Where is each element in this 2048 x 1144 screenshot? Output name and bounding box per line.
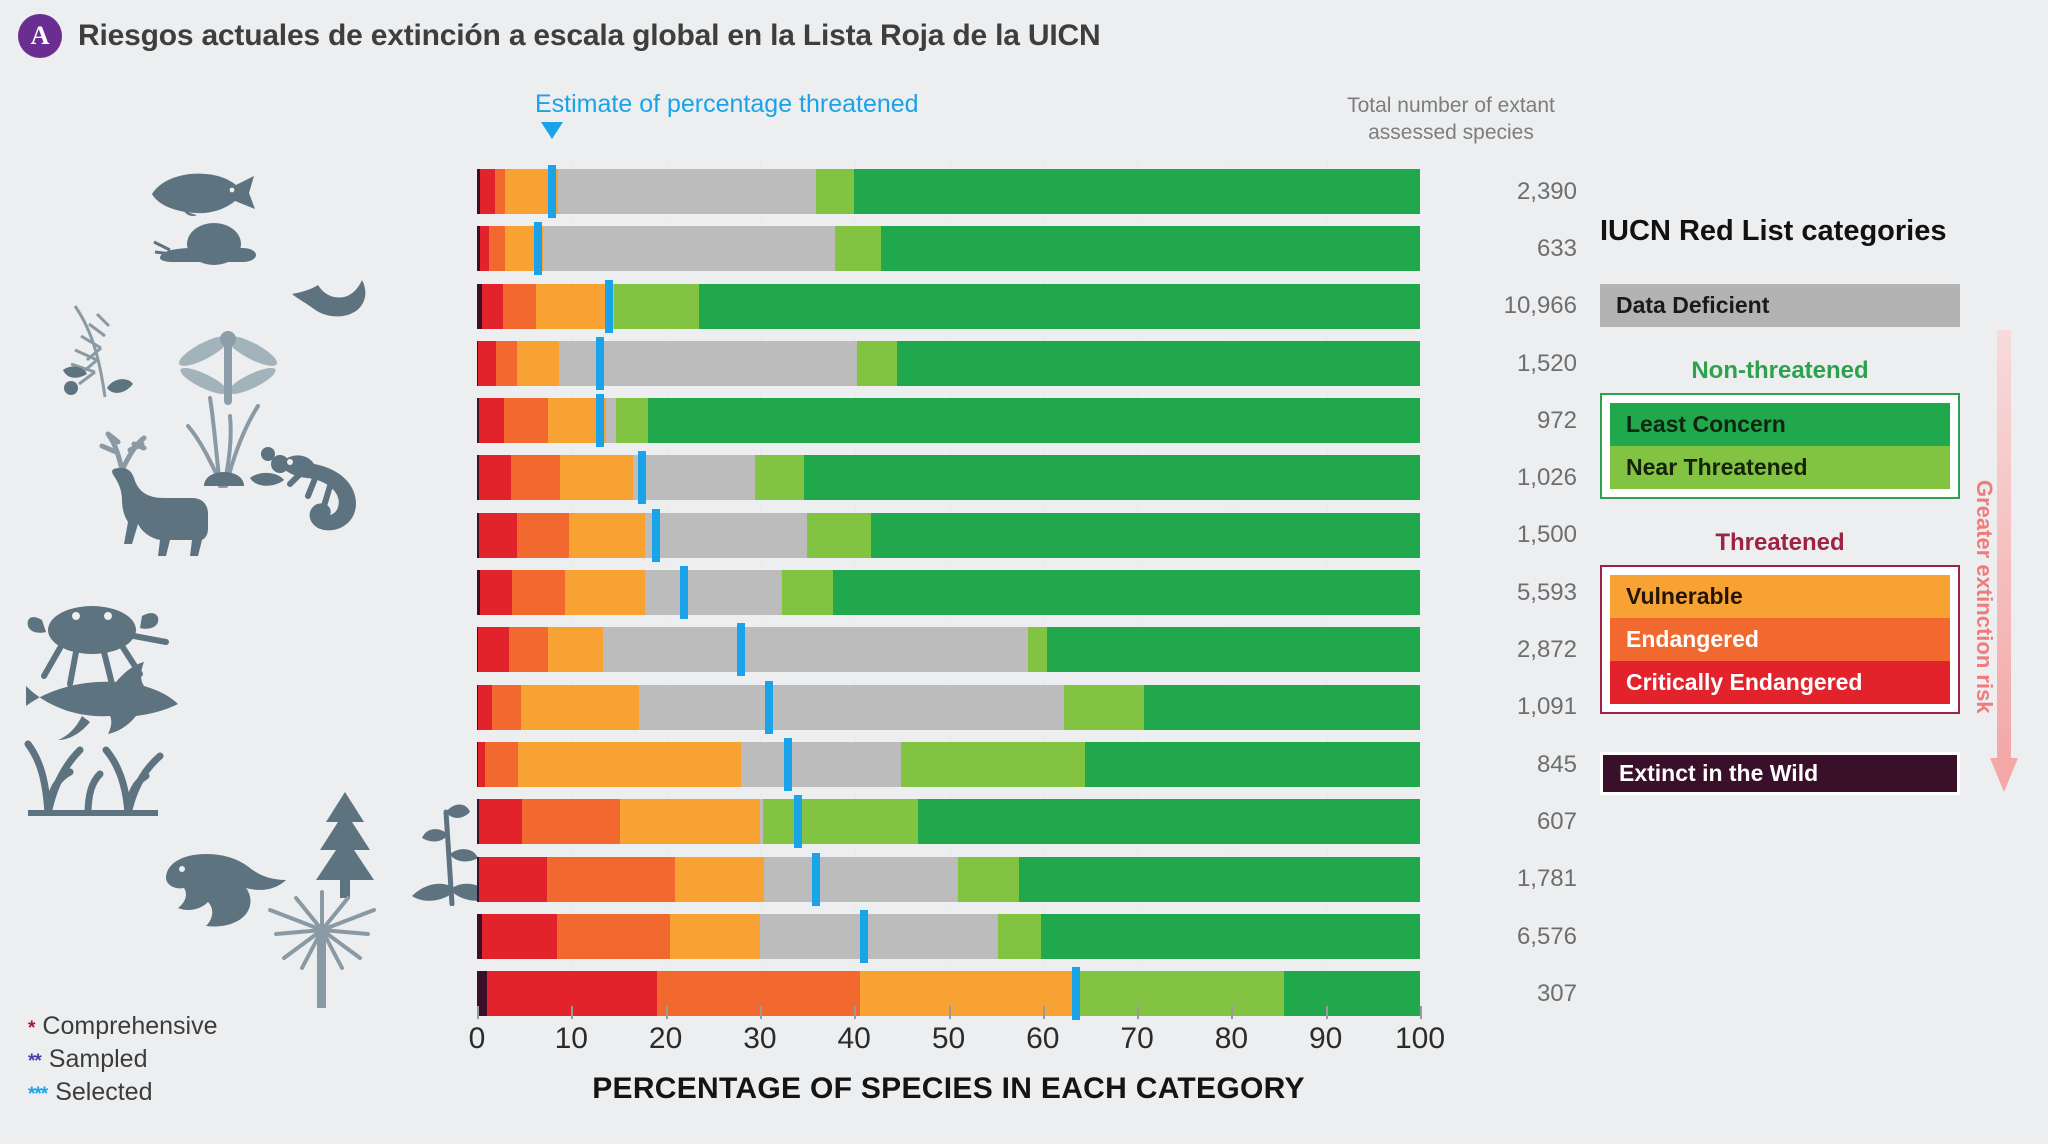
- fern-icon: [45, 292, 165, 402]
- stacked-bar: [477, 799, 1420, 844]
- grid-tick: [1043, 564, 1045, 569]
- grid-tick: [1326, 392, 1328, 397]
- bar-segment-vu: [560, 455, 633, 500]
- bar-segment-en: [657, 971, 860, 1016]
- total-species-column-header: Total number of extant assessed species: [1326, 92, 1576, 147]
- bar-segment-lc: [854, 169, 1420, 214]
- bar-segment-cr: [480, 226, 489, 271]
- bar-segment-lc: [871, 513, 1420, 558]
- grid-tick: [571, 392, 573, 397]
- chart-header: A Riesgos actuales de extinción a escala…: [18, 14, 1100, 58]
- grid-tick: [949, 851, 951, 856]
- bar-segment-dd: [645, 513, 807, 558]
- axis-tick-label: 20: [649, 1022, 682, 1056]
- bar-segment-cr: [478, 742, 486, 787]
- bar-segment-nt: [958, 857, 1019, 902]
- total-species-value: 1,091: [1447, 679, 1577, 736]
- estimate-threatened-marker: [534, 222, 542, 275]
- grid-tick: [571, 851, 573, 856]
- bar-segment-vu: [675, 857, 764, 902]
- grid-tick: [1043, 621, 1045, 626]
- grid-tick: [1231, 736, 1233, 741]
- grid-tick: [760, 220, 762, 225]
- bar-segment-cr: [482, 914, 557, 959]
- legend-chip-least-concern: Least Concern: [1610, 403, 1950, 446]
- bar-segment-dd: [760, 914, 999, 959]
- bar-segment-lc: [881, 226, 1420, 271]
- bar-segment-lc: [1019, 857, 1420, 902]
- grid-tick: [1043, 908, 1045, 913]
- grid-tick: [1043, 507, 1045, 512]
- grid-tick: [1231, 793, 1233, 798]
- grid-tick: [760, 335, 762, 340]
- footnote-item: **Sampled: [28, 1045, 218, 1074]
- grid-tick: [571, 163, 573, 168]
- grid-tick: [854, 965, 856, 970]
- grid-tick: [854, 335, 856, 340]
- bird-icon: [290, 270, 386, 318]
- bar-segment-vu: [565, 570, 645, 615]
- grid-tick: [1231, 851, 1233, 856]
- bar-segment-cr: [479, 455, 511, 500]
- bar-segment-en: [557, 914, 670, 959]
- bar-segment-en: [522, 799, 620, 844]
- estimate-threatened-label: Estimate of percentage threatened: [535, 90, 919, 119]
- page-title: Riesgos actuales de extinción a escala g…: [78, 19, 1100, 53]
- estimate-threatened-marker: [652, 509, 660, 562]
- total-species-value: 845: [1447, 736, 1577, 793]
- bar-segment-lc: [918, 799, 1420, 844]
- bar-segment-cr: [479, 398, 504, 443]
- estimate-threatened-marker: [1072, 967, 1080, 1020]
- extinction-risk-arrow: Greater extinction risk: [1985, 330, 2025, 800]
- axis-tick: [1326, 1006, 1328, 1019]
- bar-segment-lc: [1041, 914, 1420, 959]
- bar-segment-cr: [480, 570, 512, 615]
- grid-tick: [760, 449, 762, 454]
- grid-tick: [854, 908, 856, 913]
- bar-segment-lc: [1144, 685, 1420, 730]
- grid-tick: [854, 220, 856, 225]
- grid-tick: [666, 278, 668, 283]
- grid-tick: [1326, 163, 1328, 168]
- estimate-threatened-marker: [548, 165, 556, 218]
- grid-tick: [1043, 392, 1045, 397]
- grid-tick: [571, 335, 573, 340]
- estimate-threatened-marker: [638, 451, 646, 504]
- grid-tick: [1231, 908, 1233, 913]
- grid-tick: [666, 507, 668, 512]
- grid-tick: [760, 621, 762, 626]
- grid-tick: [1137, 736, 1139, 741]
- grid-tick: [1137, 621, 1139, 626]
- grid-tick: [1137, 793, 1139, 798]
- stacked-bar: [477, 857, 1420, 902]
- risk-arrow-head-icon: [1990, 758, 2018, 792]
- grid-tick: [1043, 163, 1045, 168]
- estimate-threatened-marker: [784, 738, 792, 791]
- stacked-bar: [477, 169, 1420, 214]
- grid-tick: [854, 278, 856, 283]
- bar-segment-cr: [480, 169, 495, 214]
- bar-segment-dd: [558, 169, 816, 214]
- bar-segment-lc: [804, 455, 1420, 500]
- grid-tick: [760, 679, 762, 684]
- estimate-threatened-marker: [596, 394, 604, 447]
- grid-tick: [949, 507, 951, 512]
- legend-chip-extinct-in-the-wild: Extinct in the Wild: [1600, 752, 1960, 795]
- legend-title: IUCN Red List categories: [1600, 215, 2000, 248]
- grid-tick: [854, 736, 856, 741]
- axis-tick: [854, 1006, 856, 1019]
- estimate-threatened-marker: [737, 623, 745, 676]
- grid-tick: [1231, 449, 1233, 454]
- bar-segment-cr: [482, 284, 504, 329]
- bar-segment-vu: [518, 742, 741, 787]
- stacked-bar: [477, 455, 1420, 500]
- bar-segment-cr: [478, 627, 509, 672]
- axis-tick-label: 70: [1120, 1022, 1153, 1056]
- grid-tick: [666, 163, 668, 168]
- grid-tick: [1043, 335, 1045, 340]
- bar-segment-en: [517, 513, 570, 558]
- grid-tick: [1326, 507, 1328, 512]
- snail-icon: [152, 222, 260, 274]
- grid-tick: [1137, 220, 1139, 225]
- grid-tick: [1326, 449, 1328, 454]
- grid-tick: [949, 736, 951, 741]
- grid-tick: [854, 621, 856, 626]
- bar-segment-en: [511, 455, 560, 500]
- grid-tick: [1137, 965, 1139, 970]
- total-species-value: 1,500: [1447, 507, 1577, 564]
- grid-tick: [571, 278, 573, 283]
- bar-segment-nt: [763, 799, 919, 844]
- grid-tick: [571, 793, 573, 798]
- grid-tick: [854, 163, 856, 168]
- grid-tick: [1043, 736, 1045, 741]
- footnote-marker: **: [28, 1051, 41, 1073]
- grid-tick: [666, 908, 668, 913]
- estimate-threatened-marker: [812, 853, 820, 906]
- lizard-icon: [260, 440, 400, 550]
- estimate-arrow-icon: [541, 122, 563, 139]
- stacked-bar: [477, 341, 1420, 386]
- grid-tick: [666, 449, 668, 454]
- footnote-marker: *: [28, 1018, 34, 1040]
- grid-tick: [1326, 220, 1328, 225]
- grid-tick: [666, 220, 668, 225]
- grid-tick: [1326, 278, 1328, 283]
- stacked-bar: [477, 685, 1420, 730]
- bar-segment-en: [547, 857, 675, 902]
- grid-tick: [949, 220, 951, 225]
- grid-tick: [1137, 163, 1139, 168]
- footnote-label: Sampled: [49, 1045, 148, 1074]
- bar-segment-cr: [478, 341, 496, 386]
- estimate-threatened-marker: [680, 566, 688, 619]
- grid-tick: [1326, 736, 1328, 741]
- grid-tick: [1231, 507, 1233, 512]
- conifer-icon: [300, 788, 390, 898]
- bar-segment-lc: [648, 398, 1420, 443]
- legend-group-nonthreatened: Least Concern Near Threatened: [1600, 393, 1960, 499]
- axis-tick-label: 60: [1026, 1022, 1059, 1056]
- estimate-threatened-marker: [605, 280, 613, 333]
- footnote-legend: *Comprehensive**Sampled***Selected: [28, 1012, 218, 1110]
- total-species-value: 607: [1447, 793, 1577, 850]
- axis-tick: [1043, 1006, 1045, 1019]
- bar-segment-vu: [620, 799, 760, 844]
- bar-segment-nt: [901, 742, 1085, 787]
- grid-tick: [666, 564, 668, 569]
- grid-tick: [1231, 335, 1233, 340]
- grid-tick: [571, 507, 573, 512]
- footnote-label: Selected: [55, 1078, 152, 1107]
- grid-tick: [760, 793, 762, 798]
- grid-tick: [1326, 965, 1328, 970]
- deer-icon: [78, 428, 228, 558]
- legend-chip-vulnerable: Vulnerable: [1610, 575, 1950, 618]
- bar-segment-cr: [479, 857, 547, 902]
- bar-segment-dd: [603, 627, 1027, 672]
- bar-segment-lc: [1284, 971, 1420, 1016]
- grid-tick: [760, 507, 762, 512]
- grid-tick: [666, 679, 668, 684]
- total-species-value: 972: [1447, 392, 1577, 449]
- footnote-item: *Comprehensive: [28, 1012, 218, 1041]
- grid-tick: [949, 908, 951, 913]
- stacked-bar: [477, 570, 1420, 615]
- stacked-bar: [477, 284, 1420, 329]
- grid-tick: [571, 220, 573, 225]
- risk-arrow-shaft: [1997, 330, 2011, 760]
- grid-tick: [571, 621, 573, 626]
- grid-tick: [949, 679, 951, 684]
- grid-tick: [760, 564, 762, 569]
- bar-segment-lc: [1085, 742, 1420, 787]
- grid-tick: [1043, 851, 1045, 856]
- axis-tick-label: 40: [838, 1022, 871, 1056]
- grid-tick: [760, 908, 762, 913]
- grid-tick: [1137, 564, 1139, 569]
- grid-tick: [949, 621, 951, 626]
- stacked-bar: [477, 226, 1420, 271]
- grid-tick: [949, 793, 951, 798]
- bar-segment-lc: [699, 284, 1420, 329]
- legend-group-threatened: Vulnerable Endangered Critically Endange…: [1600, 565, 1960, 714]
- legend-chip-data-deficient: Data Deficient: [1600, 284, 1960, 327]
- bar-segment-vu: [548, 627, 604, 672]
- grid-tick: [760, 851, 762, 856]
- grid-tick: [760, 736, 762, 741]
- estimate-threatened-marker: [596, 337, 604, 390]
- bar-segment-en: [509, 627, 548, 672]
- bar-segment-vu: [521, 685, 639, 730]
- axis-tick: [571, 1006, 573, 1019]
- stacked-bar: [477, 398, 1420, 443]
- bar-segment-dd: [559, 341, 857, 386]
- grid-tick: [1231, 621, 1233, 626]
- legend-caption-nonthreatened: Non-threatened: [1600, 357, 1960, 385]
- x-axis: 0102030405060708090100: [477, 1006, 1420, 1007]
- legend-caption-threatened: Threatened: [1600, 529, 1960, 557]
- bar-segment-nt: [1064, 685, 1144, 730]
- bar-segment-vu: [517, 341, 559, 386]
- grid-tick: [949, 564, 951, 569]
- total-header-line-2: assessed species: [1326, 119, 1576, 146]
- grid-tick: [949, 278, 951, 283]
- axis-tick-label: 30: [743, 1022, 776, 1056]
- axis-tick-label: 10: [555, 1022, 588, 1056]
- grid-tick: [1043, 449, 1045, 454]
- grid-tick: [1231, 965, 1233, 970]
- grid-tick: [1326, 564, 1328, 569]
- footnote-label: Comprehensive: [42, 1012, 217, 1041]
- grid-tick: [1137, 679, 1139, 684]
- grid-tick: [1326, 908, 1328, 913]
- bar-segment-nt: [857, 341, 897, 386]
- axis-tick-label: 100: [1395, 1022, 1445, 1056]
- bar-segment-en: [492, 685, 521, 730]
- grid-tick: [1043, 679, 1045, 684]
- axis-tick: [477, 1006, 479, 1019]
- bar-segment-nt: [835, 226, 880, 271]
- axis-tick: [760, 1006, 762, 1019]
- grid-tick: [854, 679, 856, 684]
- grid-tick: [760, 278, 762, 283]
- estimate-threatened-marker: [794, 795, 802, 848]
- axis-tick-label: 80: [1215, 1022, 1248, 1056]
- cycad-icon: [262, 890, 382, 1010]
- bar-segment-nt: [1077, 971, 1284, 1016]
- axis-tick: [1420, 1006, 1422, 1019]
- legend-chip-near-threatened: Near Threatened: [1610, 446, 1950, 489]
- grid-tick: [854, 851, 856, 856]
- grid-tick: [666, 621, 668, 626]
- grid-tick: [1043, 278, 1045, 283]
- estimate-threatened-marker: [860, 910, 868, 963]
- grid-tick: [571, 564, 573, 569]
- bar-segment-en: [496, 341, 517, 386]
- panel-badge: A: [18, 14, 62, 58]
- grid-tick: [1231, 163, 1233, 168]
- estimate-threatened-marker: [765, 681, 773, 734]
- bar-segment-lc: [833, 570, 1420, 615]
- axis-tick-label: 90: [1309, 1022, 1342, 1056]
- axis-tick: [1231, 1006, 1233, 1019]
- bar-segment-en: [503, 284, 536, 329]
- total-species-value: 1,026: [1447, 449, 1577, 506]
- bar-segment-dd: [543, 226, 835, 271]
- grid-tick: [571, 736, 573, 741]
- bar-segment-cr: [478, 685, 492, 730]
- grid-tick: [949, 335, 951, 340]
- grid-tick: [666, 793, 668, 798]
- legend-chip-endangered: Endangered: [1610, 618, 1950, 661]
- bar-segment-nt: [816, 169, 854, 214]
- grid-tick: [1326, 793, 1328, 798]
- bar-segment-dd: [633, 455, 756, 500]
- axis-tick-label: 50: [932, 1022, 965, 1056]
- iucn-legend: IUCN Red List categories Data Deficient …: [1600, 215, 2000, 795]
- bar-segment-lc: [897, 341, 1420, 386]
- total-species-value: 2,390: [1447, 163, 1577, 220]
- grid-tick: [666, 736, 668, 741]
- grid-tick: [571, 449, 573, 454]
- footnote-marker: ***: [28, 1084, 47, 1106]
- bar-segment-dd: [639, 685, 1063, 730]
- grid-tick: [854, 793, 856, 798]
- grid-tick: [949, 392, 951, 397]
- grid-tick: [1137, 851, 1139, 856]
- grid-tick: [1231, 564, 1233, 569]
- total-species-value: 5,593: [1447, 564, 1577, 621]
- bar-segment-en: [512, 570, 565, 615]
- bar-segment-cr: [479, 513, 517, 558]
- grid-tick: [949, 163, 951, 168]
- bar-segment-nt: [755, 455, 804, 500]
- grid-tick: [1231, 392, 1233, 397]
- risk-arrow-label: Greater extinction risk: [1971, 480, 1997, 714]
- bar-segment-en: [504, 398, 547, 443]
- grid-tick: [1231, 278, 1233, 283]
- grid-tick: [571, 965, 573, 970]
- grid-tick: [760, 392, 762, 397]
- total-species-value: 10,966: [1447, 278, 1577, 335]
- grid-tick: [1231, 220, 1233, 225]
- grid-tick: [666, 335, 668, 340]
- stacked-bar: [477, 914, 1420, 959]
- grid-tick: [1326, 679, 1328, 684]
- grid-tick: [666, 851, 668, 856]
- grid-tick: [1137, 908, 1139, 913]
- bar-segment-en: [495, 169, 505, 214]
- grid-tick: [666, 965, 668, 970]
- bar-segment-nt: [782, 570, 833, 615]
- total-species-value: 2,872: [1447, 621, 1577, 678]
- stacked-bar: [477, 627, 1420, 672]
- grid-tick: [760, 163, 762, 168]
- total-species-value: 307: [1447, 965, 1577, 1022]
- axis-tick: [1137, 1006, 1139, 1019]
- bar-segment-en: [489, 226, 505, 271]
- bar-segment-vu: [536, 284, 610, 329]
- grid-tick: [1326, 621, 1328, 626]
- grid-tick: [1043, 793, 1045, 798]
- grid-tick: [1137, 392, 1139, 397]
- grid-tick: [571, 908, 573, 913]
- grid-tick: [666, 392, 668, 397]
- grid-tick: [854, 564, 856, 569]
- total-header-line-1: Total number of extant: [1326, 92, 1576, 119]
- grid-tick: [1137, 335, 1139, 340]
- bar-segment-nt: [807, 513, 871, 558]
- legend-chip-critically-endangered: Critically Endangered: [1610, 661, 1950, 704]
- bar-segment-dd: [764, 857, 958, 902]
- footnote-item: ***Selected: [28, 1078, 218, 1107]
- stacked-bar: [477, 742, 1420, 787]
- grid-tick: [1326, 851, 1328, 856]
- total-species-value: 6,576: [1447, 908, 1577, 965]
- grid-tick: [1137, 278, 1139, 283]
- total-species-value: 1,520: [1447, 335, 1577, 392]
- fish-icon: [146, 170, 256, 216]
- bar-segment-nt: [1028, 627, 1047, 672]
- grid-tick: [949, 965, 951, 970]
- bar-segment-lc: [1047, 627, 1420, 672]
- grid-tick: [1043, 220, 1045, 225]
